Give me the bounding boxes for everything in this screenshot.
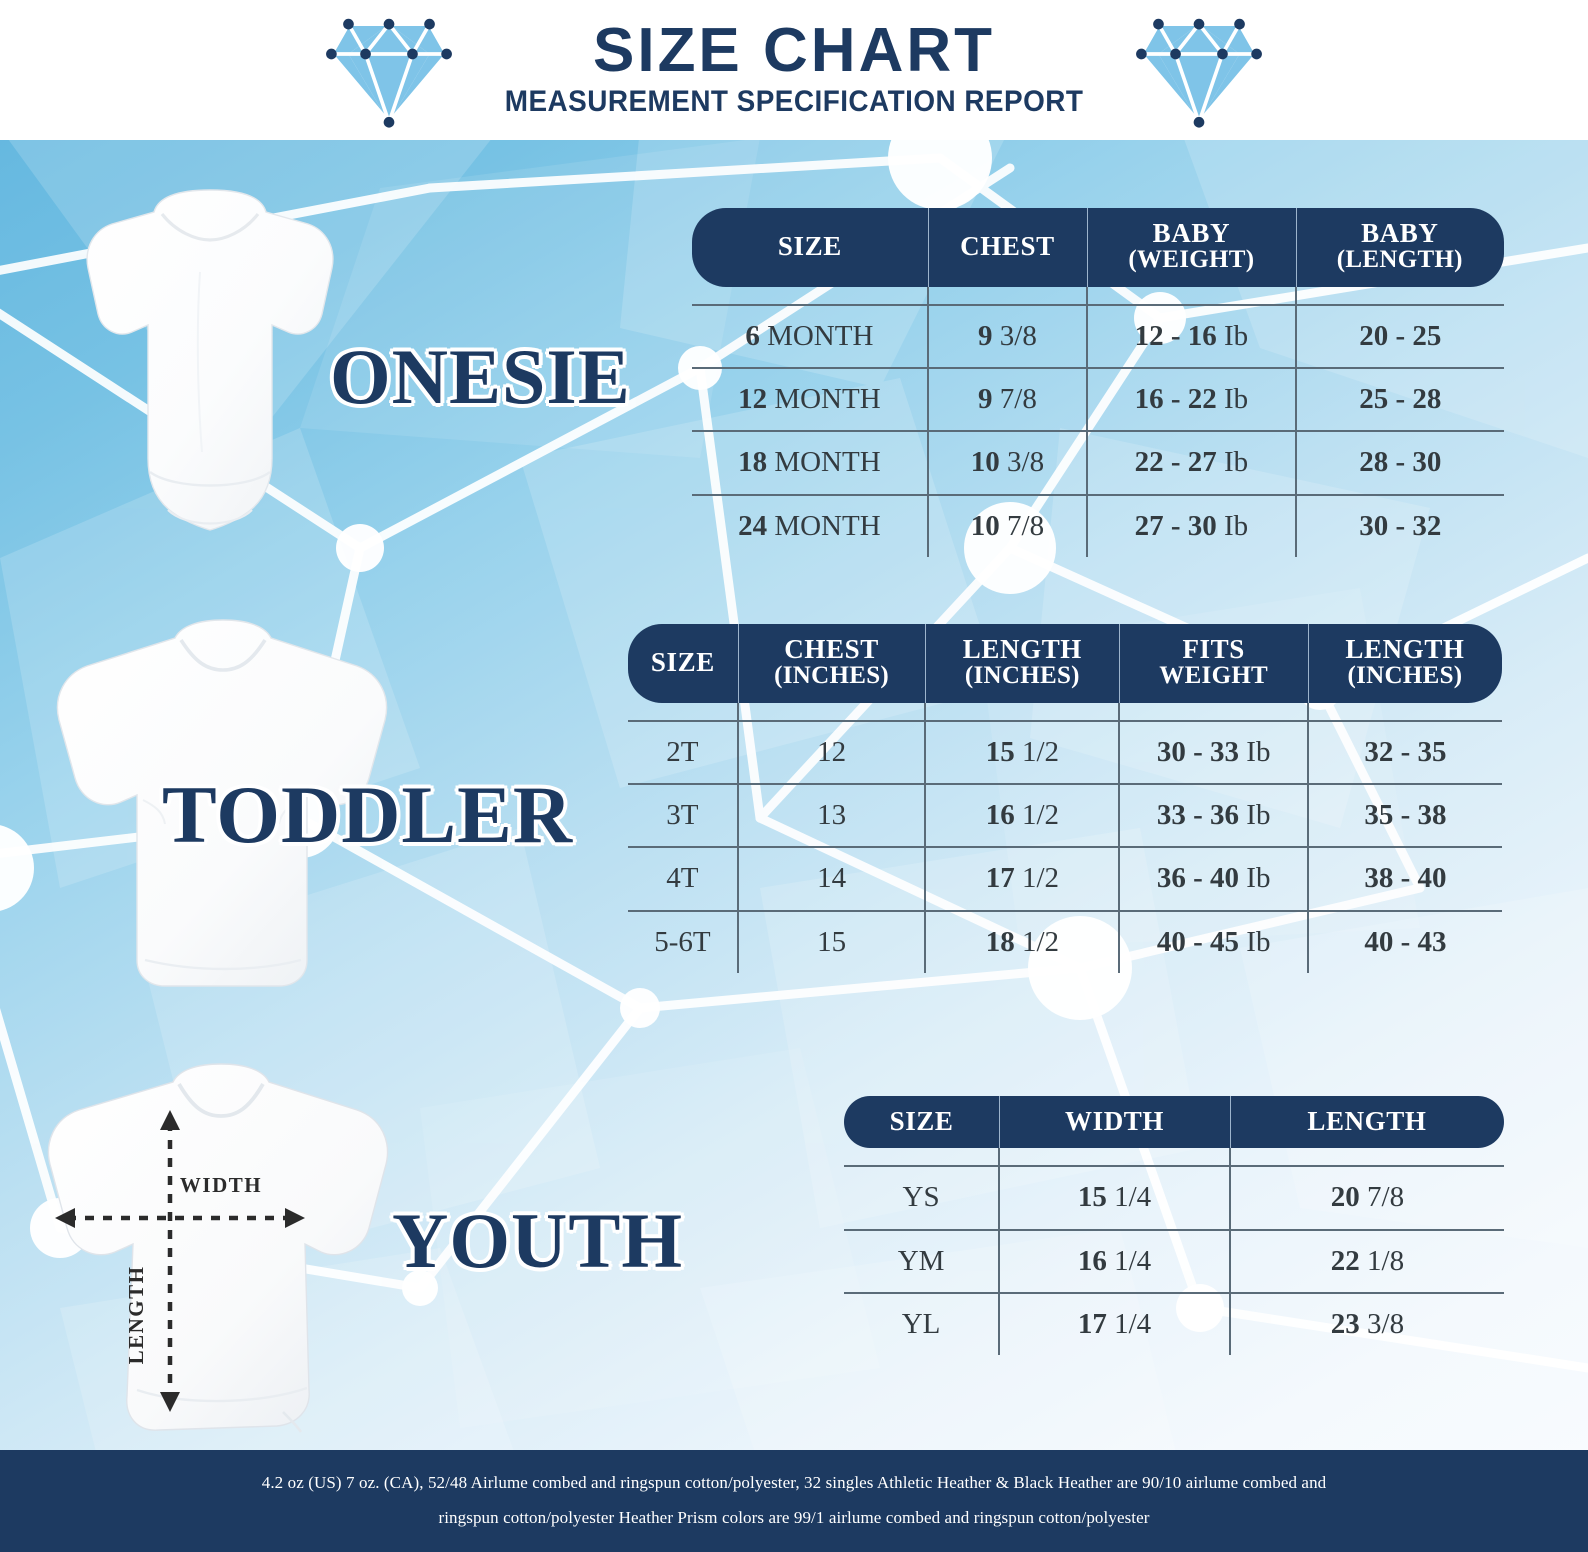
table-header-toddler: SIZECHEST(INCHES)LENGTH(INCHES)FITSWEIGH…	[628, 624, 1502, 703]
cell-value-suffix: 13	[817, 799, 846, 831]
table-row: 18 MONTH10 3/822 - 27 Ib28 - 30	[692, 431, 1504, 494]
table-cell: YL	[844, 1293, 999, 1355]
footer-disclaimer: 4.2 oz (US) 7 oz. (CA), 52/48 Airlume co…	[0, 1450, 1588, 1552]
cell-value-suffix: 7/8	[1000, 510, 1044, 542]
column-header-main: BABY	[1361, 218, 1438, 248]
cell-value: 38 - 40	[1364, 862, 1446, 894]
width-arrow-right-head	[285, 1208, 305, 1228]
column-header-sub: (INCHES)	[1312, 663, 1498, 689]
table-cell: 16 1/2	[925, 784, 1119, 847]
table-cell: 18 MONTH	[692, 431, 928, 494]
cell-value: 12	[738, 383, 767, 415]
table-row: 12 MONTH9 7/816 - 22 Ib25 - 28	[692, 368, 1504, 431]
cell-value: 17	[1078, 1308, 1107, 1340]
column-header-sub: (WEIGHT)	[1091, 247, 1291, 273]
table-body-youth: YS15 1/420 7/8YM16 1/422 1/8YL17 1/423 3…	[844, 1148, 1504, 1355]
table-cell: 40 - 43	[1308, 911, 1502, 973]
size-table-youth: SIZEWIDTHLENGTH YS15 1/420 7/8YM16 1/422…	[844, 1096, 1504, 1355]
cell-value-suffix: YS	[903, 1181, 940, 1213]
column-header-size: SIZE	[628, 624, 738, 703]
cell-value-suffix: Ib	[1217, 320, 1248, 352]
table-cell: 15	[738, 911, 926, 973]
size-table-onesie: SIZECHESTBABY(WEIGHT)BABY(LENGTH) 6 MONT…	[692, 208, 1504, 557]
cell-value: 35 - 38	[1364, 799, 1446, 831]
cell-value: 9	[978, 383, 993, 415]
column-header-sub: WEIGHT	[1123, 663, 1304, 689]
cell-value-suffix: MONTH	[767, 510, 881, 542]
cell-value-suffix: 5-6T	[654, 926, 710, 958]
table-cell: 33 - 36 Ib	[1119, 784, 1308, 847]
table-cell: 27 - 30 Ib	[1087, 495, 1295, 557]
table-cell: 36 - 40 Ib	[1119, 847, 1308, 910]
cell-value: 30 - 32	[1359, 510, 1441, 542]
column-header-chest: CHEST(INCHES)	[738, 624, 926, 703]
width-measure-label: WIDTH	[180, 1173, 262, 1197]
cell-value: 10	[971, 510, 1000, 542]
cell-value: 25 - 28	[1359, 383, 1441, 415]
column-header-chest: CHEST	[928, 208, 1087, 287]
column-header-main: CHEST	[960, 231, 1055, 261]
length-arrow-top-head	[160, 1110, 180, 1130]
cell-value-suffix: 1/8	[1360, 1245, 1404, 1277]
cell-value: 22 - 27	[1135, 446, 1217, 478]
table-cell: 14	[738, 847, 926, 910]
spacer-cell	[692, 287, 928, 305]
table-cell: 38 - 40	[1308, 847, 1502, 910]
cell-value: 28 - 30	[1359, 446, 1441, 478]
cell-value: 30 - 33	[1157, 736, 1239, 768]
column-header-main: BABY	[1153, 218, 1230, 248]
cell-value-suffix: 1/4	[1107, 1308, 1151, 1340]
cell-value-suffix: Ib	[1239, 799, 1270, 831]
column-header-sub: (INCHES)	[929, 663, 1115, 689]
spacer-cell	[925, 703, 1119, 721]
cell-value: 33 - 36	[1157, 799, 1239, 831]
cell-value: 22	[1331, 1245, 1360, 1277]
table-row: 24 MONTH10 7/827 - 30 Ib30 - 32	[692, 495, 1504, 557]
garment-label-onesie: ONESIE	[330, 332, 631, 422]
table-row: 3T1316 1/233 - 36 Ib35 - 38	[628, 784, 1502, 847]
cell-value: 20 - 25	[1359, 320, 1441, 352]
diamond-icon-left	[325, 11, 453, 129]
diamond-icon-right	[1135, 11, 1263, 129]
table-row: YL17 1/423 3/8	[844, 1293, 1504, 1355]
spacer-cell	[738, 703, 926, 721]
page-header: SIZE CHART MEASUREMENT SPECIFICATION REP…	[0, 0, 1588, 140]
column-header-length: LENGTH(INCHES)	[925, 624, 1119, 703]
column-header-length: LENGTH(INCHES)	[1308, 624, 1502, 703]
table-body-onesie: 6 MONTH9 3/812 - 16 Ib20 - 2512 MONTH9 7…	[692, 287, 1504, 557]
spacer-cell	[1296, 287, 1504, 305]
column-header-main: LENGTH	[1307, 1106, 1426, 1136]
table-header-youth: SIZEWIDTHLENGTH	[844, 1096, 1504, 1148]
cell-value-suffix: 3T	[666, 799, 698, 831]
table-cell: 22 1/8	[1230, 1230, 1504, 1293]
table-row: 5-6T1518 1/240 - 45 Ib40 - 43	[628, 911, 1502, 973]
cell-value: 23	[1331, 1308, 1360, 1340]
table-cell: 35 - 38	[1308, 784, 1502, 847]
table-cell: 23 3/8	[1230, 1293, 1504, 1355]
table-body-toddler: 2T1215 1/230 - 33 Ib32 - 353T1316 1/233 …	[628, 703, 1502, 973]
cell-value-suffix: MONTH	[767, 446, 881, 478]
cell-value: 40 - 43	[1364, 926, 1446, 958]
table-cell: 24 MONTH	[692, 495, 928, 557]
cell-value-suffix: 3/8	[1360, 1308, 1404, 1340]
table-cell: 3T	[628, 784, 738, 847]
cell-value: 16	[1078, 1245, 1107, 1277]
table-cell: 40 - 45 Ib	[1119, 911, 1308, 973]
table-cell: 12 - 16 Ib	[1087, 305, 1295, 368]
size-table-toddler: SIZECHEST(INCHES)LENGTH(INCHES)FITSWEIGH…	[628, 624, 1502, 973]
baby-onesie-photo	[50, 182, 370, 562]
cell-value-suffix: Ib	[1239, 736, 1270, 768]
cell-value-suffix: YL	[902, 1308, 941, 1340]
table-cell: 15 1/2	[925, 721, 1119, 784]
column-header-baby: BABY(WEIGHT)	[1087, 208, 1295, 287]
spacer-cell	[1308, 703, 1502, 721]
spacer-cell	[1119, 703, 1308, 721]
cell-value-suffix: 1/4	[1107, 1181, 1151, 1213]
table-cell: 13	[738, 784, 926, 847]
column-header-main: SIZE	[651, 647, 715, 677]
table-cell: 12 MONTH	[692, 368, 928, 431]
column-header-sub: (LENGTH)	[1300, 247, 1500, 273]
cell-value-suffix: 7/8	[1360, 1181, 1404, 1213]
column-header-main: FITS	[1182, 634, 1244, 664]
cell-value: 24	[738, 510, 767, 542]
cell-value-suffix: Ib	[1239, 926, 1270, 958]
cell-value: 16	[986, 799, 1015, 831]
table-cell: 5-6T	[628, 911, 738, 973]
cell-value-suffix: 12	[817, 736, 846, 768]
cell-value: 16 - 22	[1135, 383, 1217, 415]
cell-value-suffix: MONTH	[760, 320, 874, 352]
table-cell: 2T	[628, 721, 738, 784]
page-subtitle: MEASUREMENT SPECIFICATION REPORT	[505, 85, 1084, 119]
width-arrow-left-head	[55, 1208, 75, 1228]
footer-line-1: 4.2 oz (US) 7 oz. (CA), 52/48 Airlume co…	[262, 1466, 1327, 1501]
table-cell: 17 1/2	[925, 847, 1119, 910]
youth-measurement-overlay: WIDTH LENGTH	[25, 1060, 415, 1440]
table-cell: YS	[844, 1166, 999, 1229]
cell-value: 27 - 30	[1135, 510, 1217, 542]
cell-value: 9	[978, 320, 993, 352]
column-header-sub: (INCHES)	[742, 663, 922, 689]
column-header-length: LENGTH	[1230, 1096, 1504, 1148]
column-header-baby: BABY(LENGTH)	[1296, 208, 1504, 287]
table-cell: 30 - 32	[1296, 495, 1504, 557]
table-cell: 10 3/8	[928, 431, 1087, 494]
spacer-cell	[1087, 287, 1295, 305]
cell-value-suffix: Ib	[1217, 383, 1248, 415]
table-header-row: SIZECHEST(INCHES)LENGTH(INCHES)FITSWEIGH…	[628, 624, 1502, 703]
cell-value-suffix: 1/2	[1015, 736, 1059, 768]
table-cell: 28 - 30	[1296, 431, 1504, 494]
column-header-main: SIZE	[778, 231, 842, 261]
table-cell: 15 1/4	[999, 1166, 1230, 1229]
garment-label-toddler: TODDLER	[162, 768, 573, 862]
cell-value: 12 - 16	[1135, 320, 1217, 352]
column-header-width: WIDTH	[999, 1096, 1230, 1148]
cell-value: 40 - 45	[1157, 926, 1239, 958]
table-cell: 25 - 28	[1296, 368, 1504, 431]
table-cell: 17 1/4	[999, 1293, 1230, 1355]
cell-value-suffix: 3/8	[993, 320, 1037, 352]
cell-value: 10	[971, 446, 1000, 478]
column-header-size: SIZE	[692, 208, 928, 287]
cell-value-suffix: 1/2	[1015, 799, 1059, 831]
table-row: 6 MONTH9 3/812 - 16 Ib20 - 25	[692, 305, 1504, 368]
cell-value: 20	[1331, 1181, 1360, 1213]
cell-value-suffix: 4T	[666, 862, 698, 894]
cell-value-suffix: YM	[898, 1245, 945, 1277]
cell-value-suffix: MONTH	[767, 383, 881, 415]
spacer-cell	[844, 1148, 999, 1166]
table-cell: 9 3/8	[928, 305, 1087, 368]
column-header-main: LENGTH	[1345, 634, 1464, 664]
table-spacer-row	[628, 703, 1502, 721]
table-row: YM16 1/422 1/8	[844, 1230, 1504, 1293]
table-cell: 32 - 35	[1308, 721, 1502, 784]
spacer-cell	[1230, 1148, 1504, 1166]
table-header-onesie: SIZECHESTBABY(WEIGHT)BABY(LENGTH)	[692, 208, 1504, 287]
table-cell: 12	[738, 721, 926, 784]
page-title: SIZE CHART	[483, 21, 1105, 82]
table-row: 2T1215 1/230 - 33 Ib32 - 35	[628, 721, 1502, 784]
cell-value-suffix: 1/2	[1015, 926, 1059, 958]
length-arrow-bottom-head	[160, 1392, 180, 1412]
table-cell: 18 1/2	[925, 911, 1119, 973]
cell-value-suffix: 2T	[666, 736, 698, 768]
garment-label-youth: YOUTH	[392, 1196, 683, 1286]
cell-value: 17	[986, 862, 1015, 894]
spacer-cell	[928, 287, 1087, 305]
table-cell: 20 - 25	[1296, 305, 1504, 368]
table-spacer-row	[692, 287, 1504, 305]
column-header-fits: FITSWEIGHT	[1119, 624, 1308, 703]
table-cell: 16 1/4	[999, 1230, 1230, 1293]
table-cell: YM	[844, 1230, 999, 1293]
column-header-main: CHEST	[784, 634, 879, 664]
column-header-size: SIZE	[844, 1096, 999, 1148]
table-row: YS15 1/420 7/8	[844, 1166, 1504, 1229]
table-cell: 9 7/8	[928, 368, 1087, 431]
column-header-main: LENGTH	[963, 634, 1082, 664]
cell-value-suffix: Ib	[1217, 446, 1248, 478]
table-cell: 10 7/8	[928, 495, 1087, 557]
size-chart-page: SIZE CHART MEASUREMENT SPECIFICATION REP…	[0, 0, 1588, 1552]
table-header-row: SIZEWIDTHLENGTH	[844, 1096, 1504, 1148]
cell-value-suffix: 3/8	[1000, 446, 1044, 478]
table-cell: 6 MONTH	[692, 305, 928, 368]
table-cell: 22 - 27 Ib	[1087, 431, 1295, 494]
column-header-main: SIZE	[890, 1106, 954, 1136]
length-measure-label: LENGTH	[124, 1266, 148, 1365]
cell-value: 15	[1078, 1181, 1107, 1213]
cell-value: 18	[986, 926, 1015, 958]
table-header-row: SIZECHESTBABY(WEIGHT)BABY(LENGTH)	[692, 208, 1504, 287]
column-header-main: WIDTH	[1065, 1106, 1164, 1136]
table-cell: 20 7/8	[1230, 1166, 1504, 1229]
table-cell: 16 - 22 Ib	[1087, 368, 1295, 431]
table-row: 4T1417 1/236 - 40 Ib38 - 40	[628, 847, 1502, 910]
cell-value-suffix: Ib	[1239, 862, 1270, 894]
table-cell: 30 - 33 Ib	[1119, 721, 1308, 784]
cell-value-suffix: 14	[817, 862, 846, 894]
cell-value-suffix: 15	[817, 926, 846, 958]
cell-value-suffix: 7/8	[993, 383, 1037, 415]
table-cell: 4T	[628, 847, 738, 910]
footer-line-2: ringspun cotton/polyester Heather Prism …	[438, 1501, 1149, 1536]
spacer-cell	[628, 703, 738, 721]
cell-value: 15	[986, 736, 1015, 768]
cell-value-suffix: 1/4	[1107, 1245, 1151, 1277]
spacer-cell	[999, 1148, 1230, 1166]
cell-value: 36 - 40	[1157, 862, 1239, 894]
table-spacer-row	[844, 1148, 1504, 1166]
cell-value-suffix: 1/2	[1015, 862, 1059, 894]
cell-value-suffix: Ib	[1217, 510, 1248, 542]
cell-value: 6	[745, 320, 760, 352]
cell-value: 32 - 35	[1364, 736, 1446, 768]
cell-value: 18	[738, 446, 767, 478]
